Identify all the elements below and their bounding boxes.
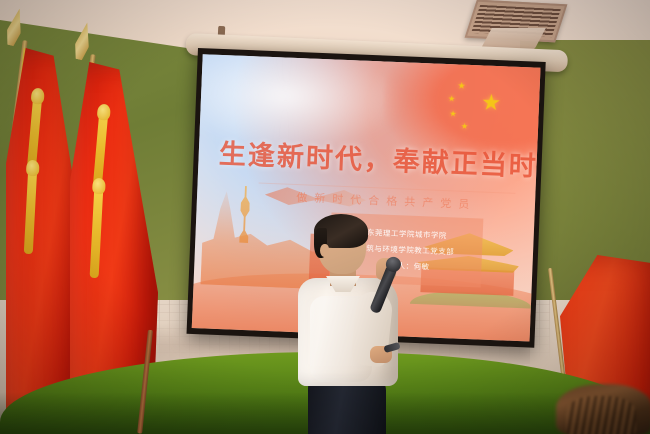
slide-subtitle: 做新时代合格共产党员 <box>258 183 516 214</box>
speaker <box>292 218 412 434</box>
flag-star-2: ★ <box>448 94 456 103</box>
flag-tassel-head-2 <box>26 160 40 177</box>
photo-scene: ★ ★ ★ ★ ★ 生逢新时代，奉献正当时 做新时代合格共产党员 东莞理工学院城… <box>0 0 650 434</box>
flag-star-1: ★ <box>457 80 466 91</box>
audience-hair <box>566 396 636 434</box>
flag-star-3: ★ <box>449 109 457 118</box>
flag-tassel-head-4 <box>92 178 106 195</box>
speaker-pants <box>308 378 386 434</box>
flag-star-large: ★ <box>481 89 502 116</box>
speaker-ear <box>320 244 329 257</box>
flag-star-4: ★ <box>461 122 469 131</box>
